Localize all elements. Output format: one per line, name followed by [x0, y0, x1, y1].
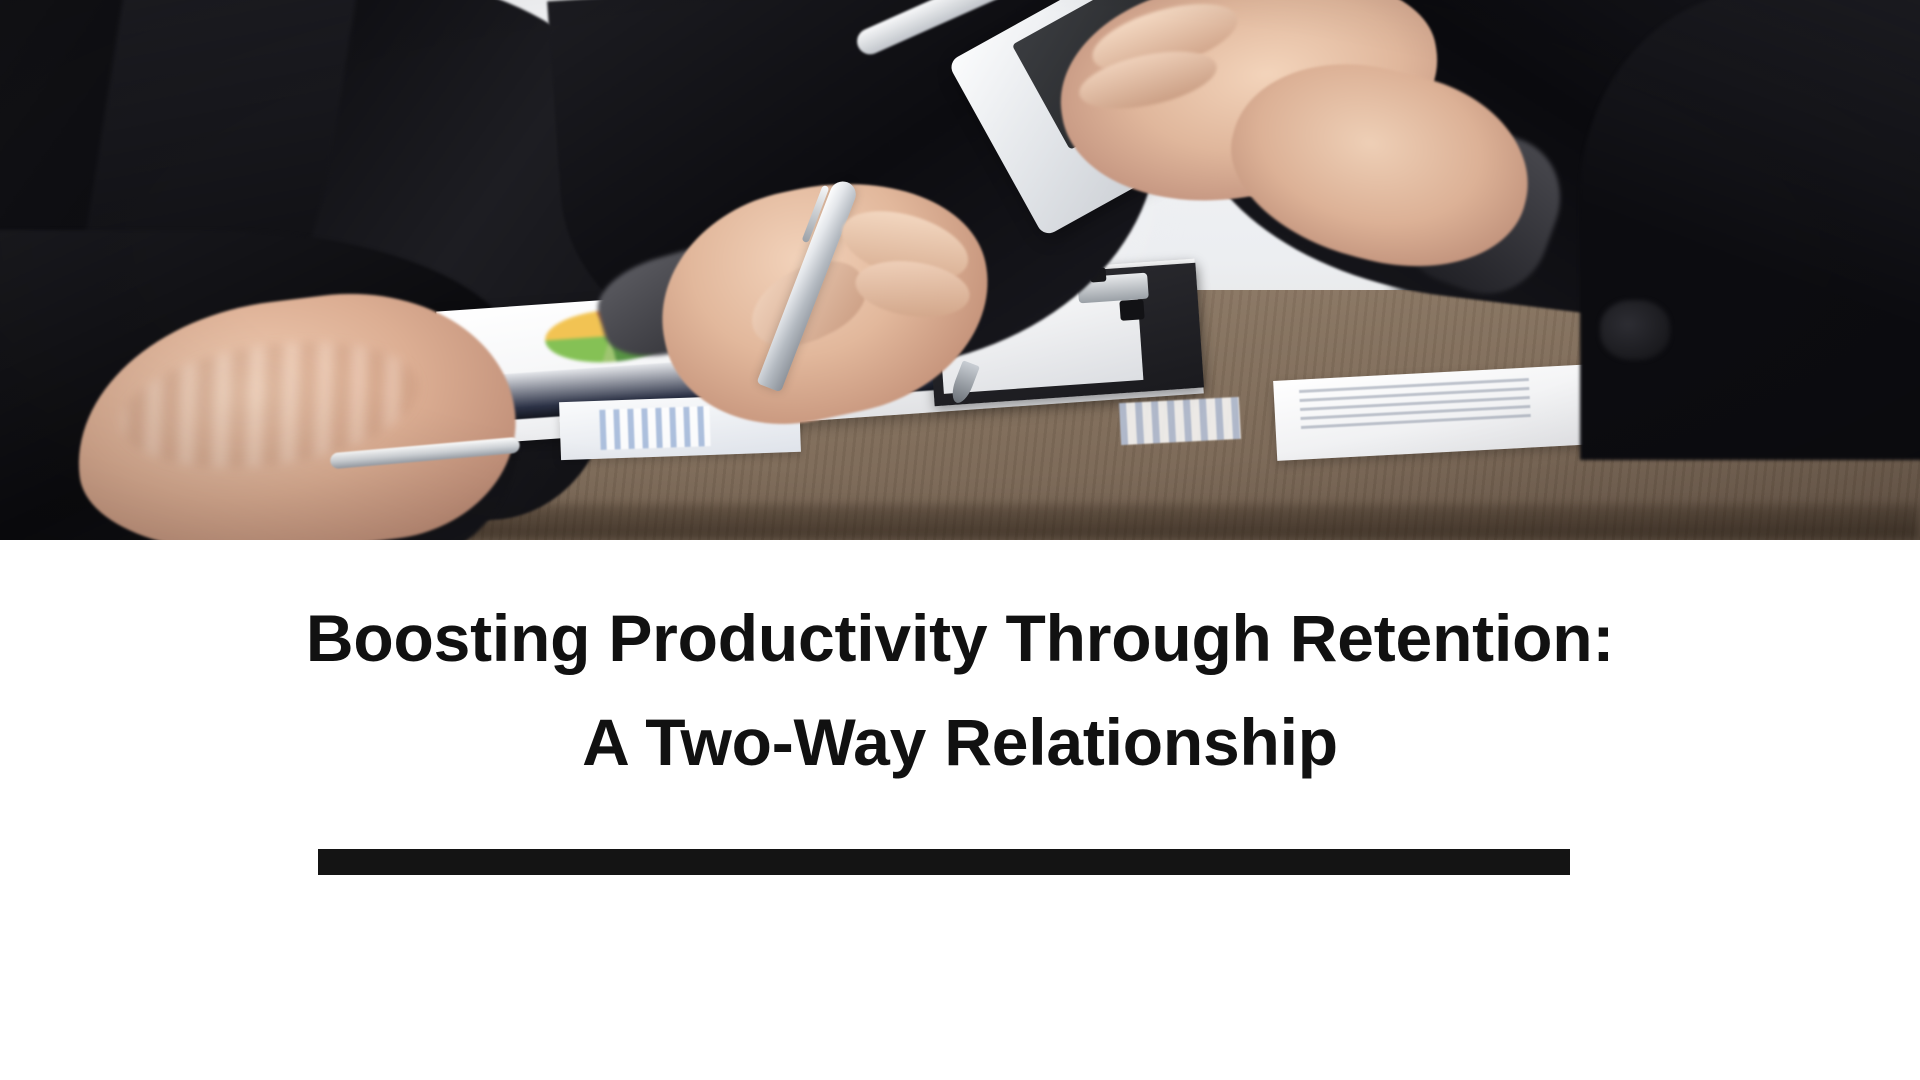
- second-person-shoulder: [1580, 0, 1920, 460]
- title-slide: Boosting Productivity Through Retention:…: [0, 0, 1920, 1080]
- clipboard-clip-knob-bottom: [1119, 299, 1144, 321]
- bar-chart-lower-left-doc: [599, 406, 710, 450]
- page-title-line-1: Boosting Productivity Through Retention:: [0, 586, 1920, 690]
- title-underline-bar: [318, 849, 1570, 875]
- bar-chart-right-doc: [1119, 397, 1241, 445]
- hero-image: [0, 0, 1920, 540]
- title-content-area: Boosting Productivity Through Retention:…: [0, 540, 1920, 1080]
- page-title-line-2: A Two-Way Relationship: [0, 690, 1920, 794]
- page-title: Boosting Productivity Through Retention:…: [0, 586, 1920, 794]
- dark-object-on-desk-right: [1600, 300, 1670, 360]
